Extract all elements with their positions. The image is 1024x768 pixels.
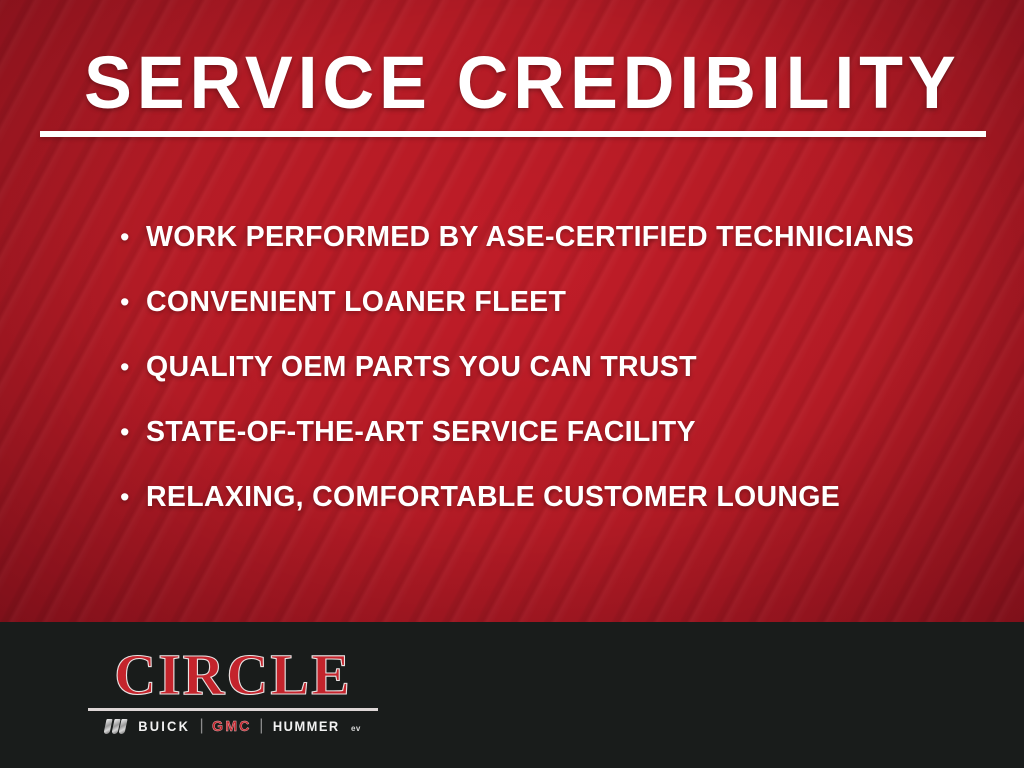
bullet-marker-icon: •	[120, 419, 146, 446]
brand-separator-icon: |	[259, 718, 263, 734]
brand-label-gmc: GMC	[212, 718, 252, 735]
promo-slide: SERVICE CREDIBILITY • WORK PERFORMED BY …	[0, 0, 1024, 768]
brand-label-buick: BUICK	[138, 718, 190, 734]
list-item: • STATE-OF-THE-ART SERVICE FACILITY	[120, 417, 1000, 482]
page-title: SERVICE CREDIBILITY	[84, 46, 961, 120]
list-item: • QUALITY OEM PARTS YOU CAN TRUST	[120, 352, 1000, 417]
list-item-label: WORK PERFORMED BY ASE-CERTIFIED TECHNICI…	[146, 222, 914, 252]
list-item: • WORK PERFORMED BY ASE-CERTIFIED TECHNI…	[120, 222, 1000, 287]
list-item: • CONVENIENT LOANER FLEET	[120, 287, 1000, 352]
list-item-label: RELAXING, COMFORTABLE CUSTOMER LOUNGE	[146, 482, 840, 512]
dealer-logo[interactable]: CIRCLE BUICK | GMC | HUMMER ev	[88, 646, 378, 735]
list-item-label: QUALITY OEM PARTS YOU CAN TRUST	[146, 352, 697, 382]
benefits-list: • WORK PERFORMED BY ASE-CERTIFIED TECHNI…	[120, 222, 1000, 547]
brand-separator-icon: |	[199, 718, 203, 734]
dealer-wordmark: CIRCLE	[88, 646, 378, 704]
list-item: • RELAXING, COMFORTABLE CUSTOMER LOUNGE	[120, 482, 1000, 547]
bullet-marker-icon: •	[120, 224, 146, 251]
title-underline-rule	[40, 131, 986, 137]
bullet-marker-icon: •	[120, 289, 146, 316]
brand-strip: BUICK | GMC | HUMMER ev	[88, 717, 378, 735]
brand-label-hummer-ev-suffix: ev	[351, 724, 361, 733]
logo-divider-rule	[88, 708, 378, 711]
list-item-label: STATE-OF-THE-ART SERVICE FACILITY	[146, 417, 696, 447]
buick-trishield-icon	[105, 719, 126, 734]
bullet-marker-icon: •	[120, 354, 146, 381]
list-item-label: CONVENIENT LOANER FLEET	[146, 287, 566, 317]
footer-bar: CIRCLE BUICK | GMC | HUMMER ev YOUR HOME…	[0, 622, 1024, 768]
brand-label-hummer: HUMMER	[273, 718, 340, 734]
bullet-marker-icon: •	[120, 484, 146, 511]
